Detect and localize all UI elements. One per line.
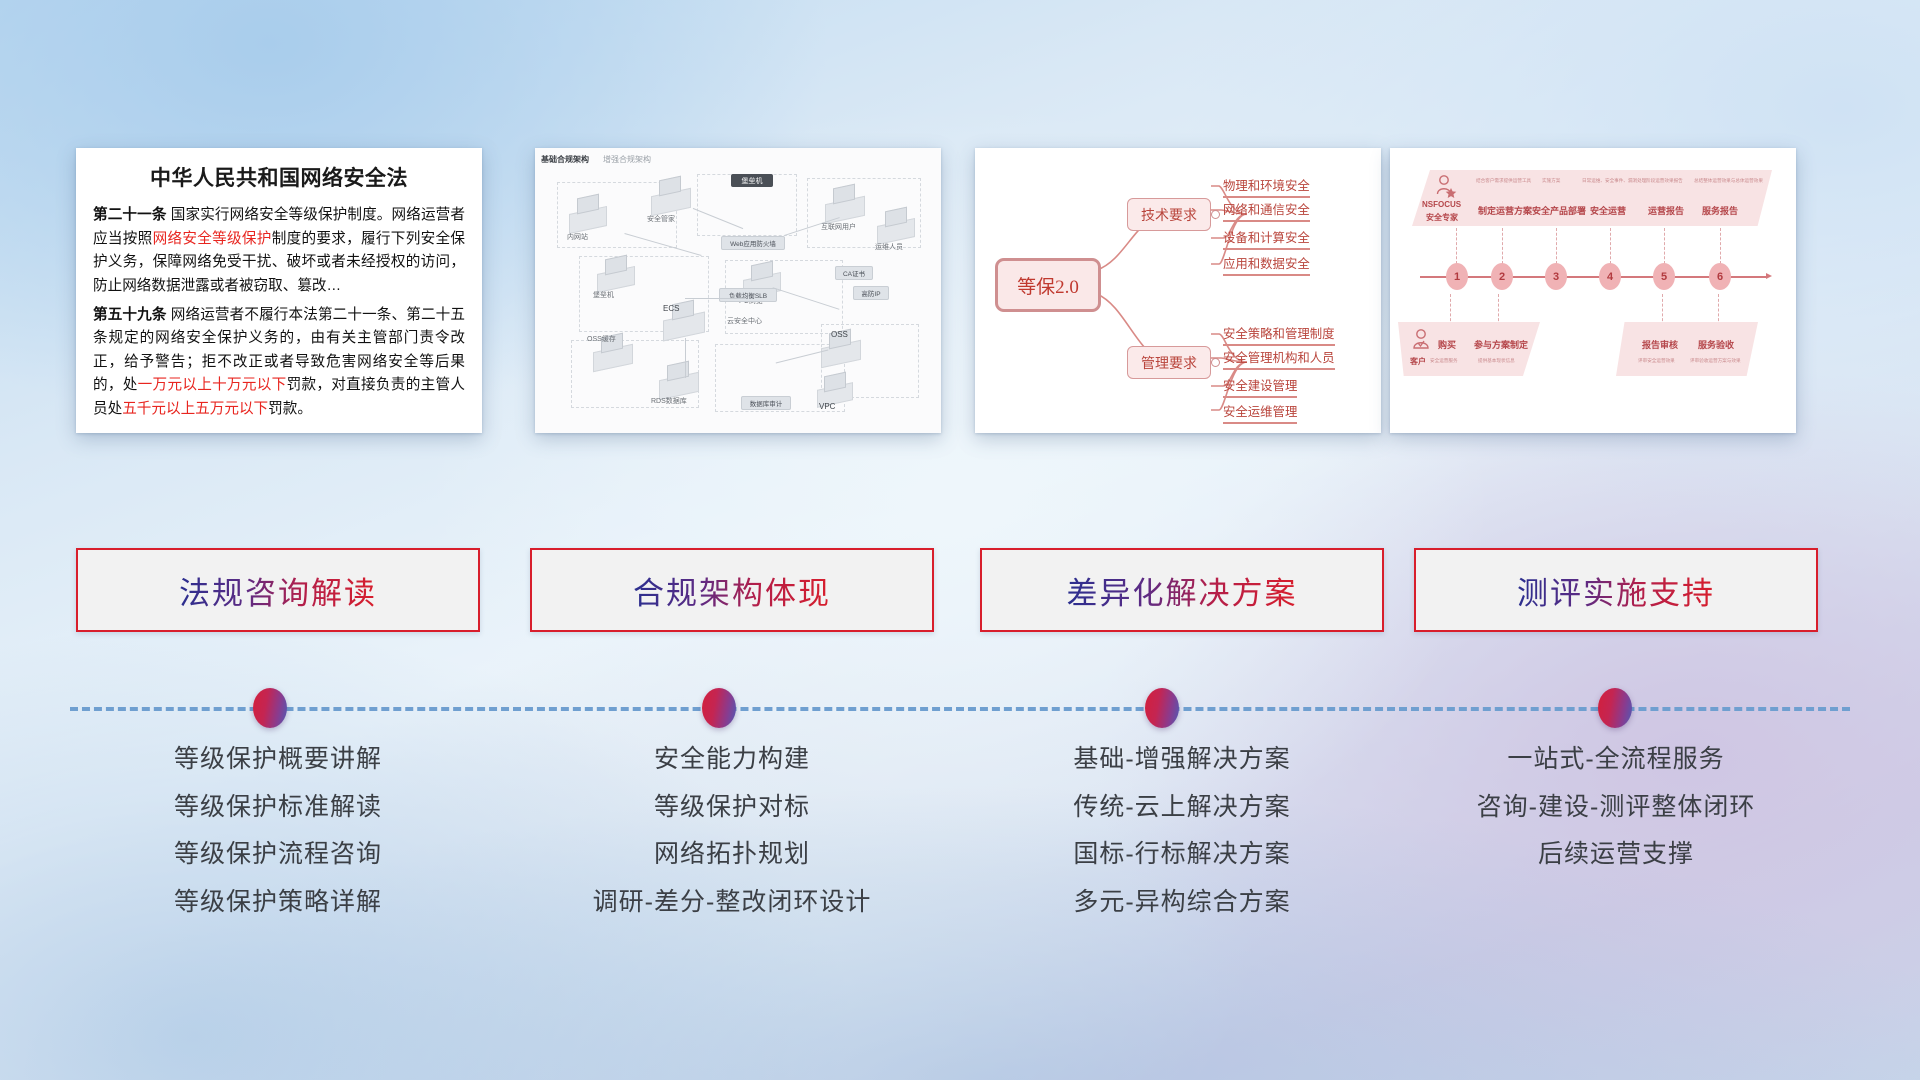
card-mindmap-dengbao[interactable]: 等保2.0 技术要求 物理和环境安全 网络和通信安全 设备和计算安全 应用和数据…	[975, 148, 1381, 433]
mindmap-core-node[interactable]: 等保2.0	[995, 258, 1101, 312]
list-item: 基础-增强解决方案	[980, 742, 1384, 777]
flow-top-title-2: 安全运营	[1590, 204, 1626, 217]
flow-top-title-4: 服务报告	[1702, 204, 1738, 217]
section-items-column-4: 一站式-全流程服务 咨询-建设-测评整体闭环 后续运营支撑	[1414, 742, 1818, 885]
law-article-59-highlight-2: 五千元以上五万元以下	[122, 401, 268, 417]
law-article-21: 第二十一条 国家实行网络安全等级保护制度。网络运营者应当按照网络安全等级保护制度…	[93, 204, 465, 299]
mindmap-leaf-mgmt-1: 安全管理机构和人员	[1223, 348, 1335, 370]
architecture-label-11: 云安全中心	[727, 316, 762, 326]
card-nsfocus-service-flow[interactable]: NSFOCUS 安全专家 结合客户需求提供运营工具 制定运营方案 实施方案 安全…	[1390, 148, 1796, 433]
mindmap-knob-management[interactable]	[1211, 358, 1220, 367]
flow-bottom-title-2: 报告审核	[1642, 338, 1678, 351]
list-item: 网络拓扑规划	[530, 837, 934, 872]
law-card-body: 中华人民共和国网络安全法 第二十一条 国家实行网络安全等级保护制度。网络运营者应…	[76, 148, 482, 433]
flow-bottom-sub-1: 提供基本现状信息	[1478, 358, 1515, 364]
list-item: 后续运营支撑	[1414, 837, 1818, 872]
timeline-dot-2[interactable]	[702, 688, 736, 728]
architecture-label-4: 堡垒机	[593, 290, 614, 300]
mindmap-branch-technical[interactable]: 技术要求	[1127, 198, 1211, 231]
card-cloud-architecture[interactable]: 基础合规架构 增强合规架构 内网站 安全管家 堡垒机 互联	[535, 148, 941, 433]
timeline	[0, 683, 1920, 733]
flow-top-sub-3: 阶段运营效果报告	[1646, 178, 1683, 184]
law-article-59-label: 第五十九条	[93, 307, 167, 323]
mindmap-leaf-tech-2: 设备和计算安全	[1223, 228, 1310, 250]
list-item: 咨询-建设-测评整体闭环	[1414, 790, 1818, 825]
law-article-59-part3: 罚款。	[268, 401, 312, 417]
timeline-dashed-line	[70, 707, 1850, 711]
section-items-column-1: 等级保护概要讲解 等级保护标准解读 等级保护流程咨询 等级保护策略详解	[76, 742, 480, 932]
mindmap-leaf-mgmt-2: 安全建设管理	[1223, 376, 1297, 398]
section-title-label-3: 差异化解决方案	[1067, 568, 1298, 613]
section-title-box-4[interactable]: 测评实施支持	[1414, 548, 1818, 632]
slide-stage: 中华人民共和国网络安全法 第二十一条 国家实行网络安全等级保护制度。网络运营者应…	[0, 0, 1920, 1080]
mindmap-leaf-tech-1: 网络和通信安全	[1223, 200, 1310, 222]
list-item: 等级保护对标	[530, 790, 934, 825]
law-title: 中华人民共和国网络安全法	[93, 162, 465, 192]
flow-bottom-title-3: 服务验收	[1698, 338, 1734, 351]
flow-arrow-icon	[1766, 273, 1772, 279]
architecture-tab-basic: 基础合规架构	[541, 154, 589, 165]
section-title-box-3[interactable]: 差异化解决方案	[980, 548, 1384, 632]
architecture-label-14: OSS	[831, 330, 848, 339]
customer-person-icon	[1410, 328, 1432, 354]
list-item: 国标-行标解决方案	[980, 837, 1384, 872]
flow-step-node-4[interactable]: 4	[1599, 263, 1621, 290]
flow-top-sub-0: 结合客户需求提供运营工具	[1476, 178, 1531, 184]
list-item: 等级保护流程咨询	[76, 837, 480, 872]
list-item: 传统-云上解决方案	[980, 790, 1384, 825]
architecture-label-15: VPC	[819, 402, 835, 411]
architecture-label-7: 负载均衡SLB	[719, 288, 777, 302]
flow-top-sub-4: 总结整体运营效果与总体运营效果	[1694, 178, 1763, 184]
mindmap-leaf-mgmt-3: 安全运维管理	[1223, 402, 1297, 424]
architecture-diagram: 基础合规架构 增强合规架构 内网站 安全管家 堡垒机 互联	[535, 148, 941, 433]
illustration-cards-row: 中华人民共和国网络安全法 第二十一条 国家实行网络安全等级保护制度。网络运营者应…	[0, 148, 1920, 438]
list-item: 等级保护概要讲解	[76, 742, 480, 777]
flow-bottom-sub-3: 评审验收运营方案与效果	[1690, 358, 1741, 364]
flow-bottom-sub-2: 评审安全运营效果	[1638, 358, 1675, 364]
list-item: 安全能力构建	[530, 742, 934, 777]
flow-brand-sub: 安全专家	[1426, 212, 1458, 223]
flow-top-title-0: 制定运营方案	[1478, 204, 1532, 217]
architecture-label-3: 运维人员	[875, 242, 903, 252]
list-item: 调研-差分-整改闭环设计	[530, 885, 934, 920]
timeline-dot-1[interactable]	[253, 688, 287, 728]
mindmap-branch-management[interactable]: 管理要求	[1127, 346, 1211, 379]
flow-bottom-title-1: 参与方案制定	[1474, 338, 1528, 351]
timeline-dot-4[interactable]	[1598, 688, 1632, 728]
law-article-59: 第五十九条 网络运营者不履行本法第二十一条、第二十五条规定的网络安全保护义务的，…	[93, 304, 465, 422]
section-title-label-1: 法规咨询解读	[179, 568, 377, 613]
section-items-row: 等级保护概要讲解 等级保护标准解读 等级保护流程咨询 等级保护策略详解 安全能力…	[0, 742, 1920, 982]
flow-band-bottom-right	[1616, 322, 1758, 376]
flow-diagram: NSFOCUS 安全专家 结合客户需求提供运营工具 制定运营方案 实施方案 安全…	[1390, 148, 1796, 433]
architecture-label-16: 数据库审计	[741, 396, 791, 410]
list-item: 等级保护策略详解	[76, 885, 480, 920]
mindmap-knob-technical[interactable]	[1211, 210, 1220, 219]
architecture-label-9: 高防IP	[853, 286, 889, 300]
flow-step-node-6[interactable]: 6	[1709, 263, 1731, 290]
law-article-59-highlight-1: 一万元以上十万元以下	[138, 377, 287, 393]
section-items-column-2: 安全能力构建 等级保护对标 网络拓扑规划 调研-差分-整改闭环设计	[530, 742, 934, 932]
law-article-21-label: 第二十一条	[93, 207, 167, 223]
card-cybersecurity-law[interactable]: 中华人民共和国网络安全法 第二十一条 国家实行网络安全等级保护制度。网络运营者应…	[76, 148, 482, 433]
flow-top-title-3: 运营报告	[1648, 204, 1684, 217]
timeline-dot-3[interactable]	[1145, 688, 1179, 728]
architecture-label-8: CA证书	[835, 266, 873, 280]
mindmap-leaf-tech-3: 应用和数据安全	[1223, 254, 1310, 276]
architecture-label-2: 互联网用户	[821, 222, 856, 232]
architecture-label-12: OSS缓存	[587, 334, 616, 344]
list-item: 等级保护标准解读	[76, 790, 480, 825]
section-title-box-2[interactable]: 合规架构体现	[530, 548, 934, 632]
flow-top-sub-1: 实施方案	[1542, 178, 1560, 184]
flow-customer-label: 客户	[1410, 356, 1426, 367]
flow-step-node-2[interactable]: 2	[1491, 263, 1513, 290]
section-title-row: 法规咨询解读 合规架构体现 差异化解决方案 测评实施支持	[0, 548, 1920, 634]
section-title-box-1[interactable]: 法规咨询解读	[76, 548, 480, 632]
section-items-column-3: 基础-增强解决方案 传统-云上解决方案 国标-行标解决方案 多元-异构综合方案	[980, 742, 1384, 932]
mindmap-diagram: 等保2.0 技术要求 物理和环境安全 网络和通信安全 设备和计算安全 应用和数据…	[975, 148, 1381, 433]
flow-brand: NSFOCUS	[1422, 200, 1461, 209]
architecture-tab-enhanced: 增强合规架构	[603, 154, 651, 165]
flow-step-node-3[interactable]: 3	[1545, 263, 1567, 290]
list-item: 多元-异构综合方案	[980, 885, 1384, 920]
flow-top-title-1: 安全产品部署	[1532, 204, 1586, 217]
flow-top-sub-2: 日常运维、安全事件、漏洞处理	[1582, 178, 1646, 184]
mindmap-leaf-mgmt-0: 安全策略和管理制度	[1223, 324, 1335, 346]
law-article-21-highlight: 网络安全等级保护	[153, 231, 272, 247]
flow-step-node-1[interactable]: 1	[1446, 263, 1468, 290]
flow-bottom-title-0: 购买	[1438, 338, 1456, 351]
list-item: 一站式-全流程服务	[1414, 742, 1818, 777]
architecture-label-0: 内网站	[567, 232, 588, 242]
architecture-label-10: ECS	[663, 304, 679, 313]
flow-bottom-sub-0: 安全运营服务	[1430, 358, 1458, 364]
expert-person-icon	[1434, 174, 1460, 200]
architecture-label-6: Web应用防火墙	[721, 236, 785, 250]
architecture-label-1: 安全管家	[647, 214, 675, 224]
flow-step-node-5[interactable]: 5	[1653, 263, 1675, 290]
section-title-label-2: 合规架构体现	[633, 568, 831, 613]
section-title-label-4: 测评实施支持	[1517, 568, 1715, 613]
mindmap-leaf-tech-0: 物理和环境安全	[1223, 176, 1310, 198]
architecture-label-13: RDS数据库	[651, 396, 687, 406]
architecture-badge: 堡垒机	[731, 174, 773, 187]
